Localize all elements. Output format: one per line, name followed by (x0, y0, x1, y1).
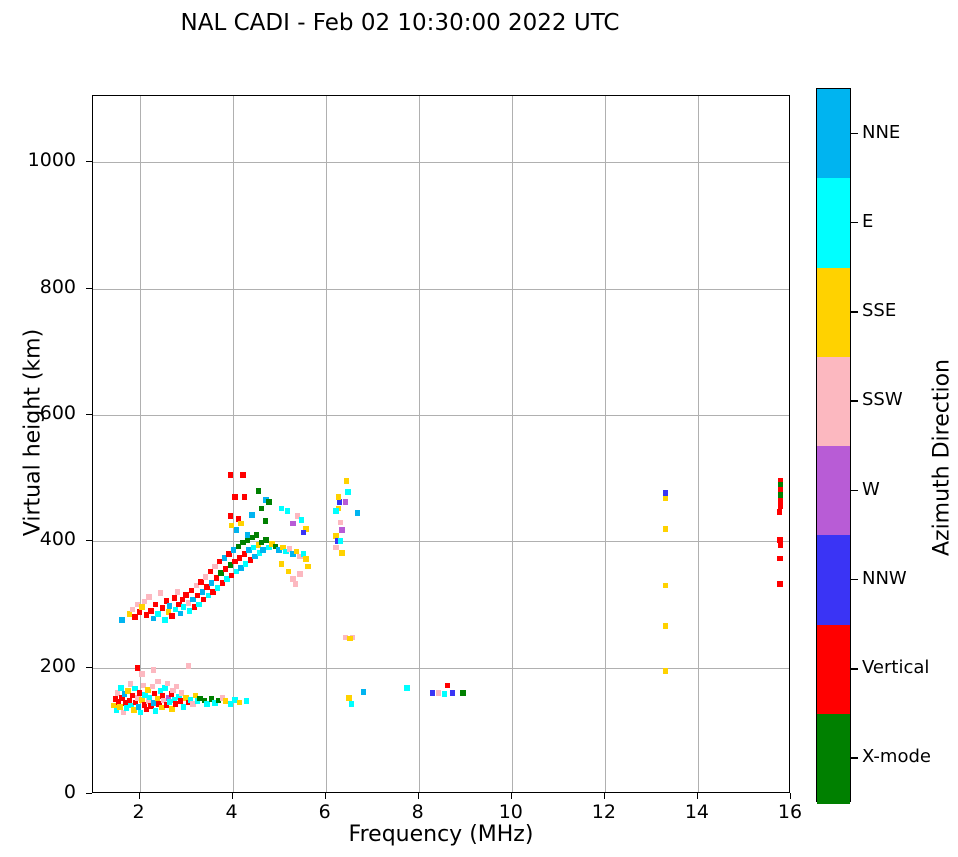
gridline-horizontal (93, 415, 789, 416)
data-marker (777, 556, 782, 562)
data-marker (139, 671, 144, 677)
y-tick (86, 288, 92, 289)
data-marker (260, 547, 265, 553)
data-marker (337, 499, 342, 505)
y-tick (86, 540, 92, 541)
y-tick-label: 0 (6, 781, 76, 803)
y-axis-label: Virtual height (km) (21, 283, 46, 583)
x-axis-label: Frequency (MHz) (92, 822, 790, 847)
x-tick (232, 793, 233, 799)
data-marker (118, 685, 123, 691)
gridline-horizontal (93, 668, 789, 669)
y-tick-label: 1000 (6, 149, 76, 171)
x-tick (418, 793, 419, 799)
data-marker (305, 564, 310, 570)
colorbar-segment-w[interactable] (817, 446, 850, 536)
data-marker (285, 508, 290, 514)
data-marker (347, 636, 352, 642)
data-marker (183, 592, 188, 598)
data-marker (160, 605, 165, 611)
data-marker (186, 663, 191, 669)
colorbar-tick (851, 222, 858, 223)
data-marker (436, 690, 441, 696)
data-marker (200, 589, 205, 595)
x-tick-label: 12 (574, 801, 634, 823)
data-marker (339, 527, 344, 533)
data-marker (259, 506, 264, 512)
colorbar-segment-nne[interactable] (817, 89, 850, 179)
data-marker (249, 512, 254, 518)
data-marker (333, 508, 338, 514)
data-marker (263, 518, 268, 524)
data-marker (155, 611, 160, 617)
data-marker (198, 579, 203, 585)
data-marker (266, 499, 271, 505)
data-marker (214, 575, 219, 581)
data-marker (338, 520, 343, 526)
colorbar-segment-e[interactable] (817, 178, 850, 268)
data-marker (158, 590, 163, 596)
data-marker (178, 611, 183, 617)
data-marker (778, 542, 783, 548)
data-marker (256, 488, 261, 494)
colorbar-segment-nnw[interactable] (817, 535, 850, 625)
data-marker (215, 585, 220, 591)
data-marker (279, 561, 284, 567)
y-tick (86, 793, 92, 794)
data-marker (132, 614, 137, 620)
data-marker (263, 537, 268, 543)
x-tick (139, 793, 140, 799)
colorbar-tick (851, 400, 858, 401)
data-marker (172, 595, 177, 601)
data-marker (286, 569, 291, 575)
data-marker (663, 623, 668, 629)
data-marker (212, 564, 217, 570)
colorbar-label-nnw: NNW (862, 568, 907, 589)
x-tick (325, 793, 326, 799)
colorbar-segment-ssw[interactable] (817, 357, 850, 447)
data-marker (333, 545, 338, 551)
gridline-horizontal (93, 162, 789, 163)
page-title: NAL CADI - Feb 02 10:30:00 2022 UTC (0, 10, 800, 36)
data-marker (663, 526, 668, 532)
data-marker (162, 617, 167, 623)
colorbar-tick (851, 757, 858, 758)
colorbar-label-ssw: SSW (862, 389, 903, 410)
colorbar-label-sse: SSE (862, 300, 896, 321)
colorbar-tick (851, 579, 858, 580)
plot-area[interactable] (92, 95, 790, 793)
y-tick-label: 200 (6, 655, 76, 677)
data-marker (297, 571, 302, 577)
data-marker (244, 698, 249, 704)
data-marker (155, 679, 160, 685)
data-marker (445, 683, 450, 689)
data-marker (167, 603, 172, 609)
data-marker (196, 602, 201, 608)
data-marker (228, 513, 233, 519)
colorbar[interactable] (816, 88, 851, 802)
data-marker (238, 521, 243, 527)
gridline-vertical (233, 96, 234, 792)
data-marker (174, 684, 179, 690)
data-marker (344, 478, 349, 484)
colorbar-label-x-mode: X-mode (862, 746, 931, 767)
colorbar-title: Azimuth Direction (930, 298, 955, 618)
data-marker (208, 569, 213, 575)
colorbar-tick (851, 133, 858, 134)
x-tick-label: 14 (667, 801, 727, 823)
data-marker (135, 665, 140, 671)
data-marker (299, 517, 304, 523)
data-marker (663, 668, 668, 674)
data-marker (663, 496, 668, 502)
data-marker (361, 689, 366, 695)
data-marker (228, 472, 233, 478)
data-marker (139, 604, 144, 610)
data-marker (254, 532, 259, 538)
gridline-vertical (419, 96, 420, 792)
data-marker (169, 613, 174, 619)
data-marker (336, 494, 341, 500)
data-marker (138, 710, 143, 716)
gridline-horizontal (93, 541, 789, 542)
colorbar-label-vertical: Vertical (862, 657, 929, 678)
y-tick (86, 414, 92, 415)
data-marker (355, 510, 360, 516)
data-marker (303, 556, 308, 562)
data-marker (339, 550, 344, 556)
x-tick-label: 2 (109, 801, 169, 823)
data-marker (119, 617, 124, 623)
colorbar-label-nne: NNE (862, 122, 900, 143)
data-marker (232, 494, 237, 500)
x-tick-label: 16 (760, 801, 820, 823)
x-tick-label: 6 (295, 801, 355, 823)
data-marker (430, 690, 435, 696)
data-marker (150, 684, 155, 690)
data-marker (343, 499, 348, 505)
data-marker (777, 581, 782, 587)
gridline-vertical (698, 96, 699, 792)
data-marker (175, 589, 180, 595)
colorbar-segment-vertical[interactable] (817, 625, 850, 715)
y-tick (86, 161, 92, 162)
data-marker (234, 527, 239, 533)
colorbar-tick (851, 668, 858, 669)
data-marker (165, 681, 170, 687)
data-marker (293, 581, 298, 587)
data-marker (148, 608, 153, 614)
gridline-horizontal (93, 289, 789, 290)
data-marker (301, 530, 306, 536)
data-marker (189, 588, 194, 594)
data-marker (345, 489, 350, 495)
x-tick-label: 4 (202, 801, 262, 823)
data-marker (460, 690, 465, 696)
data-marker (237, 700, 242, 706)
colorbar-segment-x-mode[interactable] (817, 714, 850, 804)
data-marker (146, 594, 151, 600)
data-marker (663, 583, 668, 589)
data-marker (290, 521, 295, 527)
data-marker (245, 532, 250, 538)
data-marker (240, 472, 245, 478)
data-marker (442, 691, 447, 697)
data-marker (137, 609, 142, 615)
data-marker (153, 602, 158, 608)
x-tick-label: 10 (481, 801, 541, 823)
y-tick (86, 667, 92, 668)
data-marker (209, 580, 214, 586)
data-marker (151, 667, 156, 673)
colorbar-segment-sse[interactable] (817, 268, 850, 358)
data-marker (137, 690, 142, 696)
data-marker (346, 695, 351, 701)
gridline-vertical (326, 96, 327, 792)
data-marker (242, 494, 247, 500)
colorbar-tick (851, 311, 858, 312)
data-marker (349, 701, 354, 707)
data-marker (450, 690, 455, 696)
data-marker (404, 685, 409, 691)
figure-canvas: NAL CADI - Feb 02 10:30:00 2022 UTC 2468… (0, 0, 958, 857)
data-marker (279, 506, 284, 512)
data-marker (203, 574, 208, 580)
gridline-vertical (605, 96, 606, 792)
data-marker (777, 509, 782, 515)
colorbar-tick (851, 490, 858, 491)
data-marker (338, 538, 343, 544)
gridline-vertical (512, 96, 513, 792)
x-tick (511, 793, 512, 799)
data-marker (153, 708, 158, 714)
x-tick (790, 793, 791, 799)
x-tick (604, 793, 605, 799)
data-marker (130, 607, 135, 613)
x-tick-label: 8 (388, 801, 448, 823)
colorbar-label-w: W (862, 479, 880, 500)
x-tick (697, 793, 698, 799)
colorbar-label-e: E (862, 211, 873, 232)
